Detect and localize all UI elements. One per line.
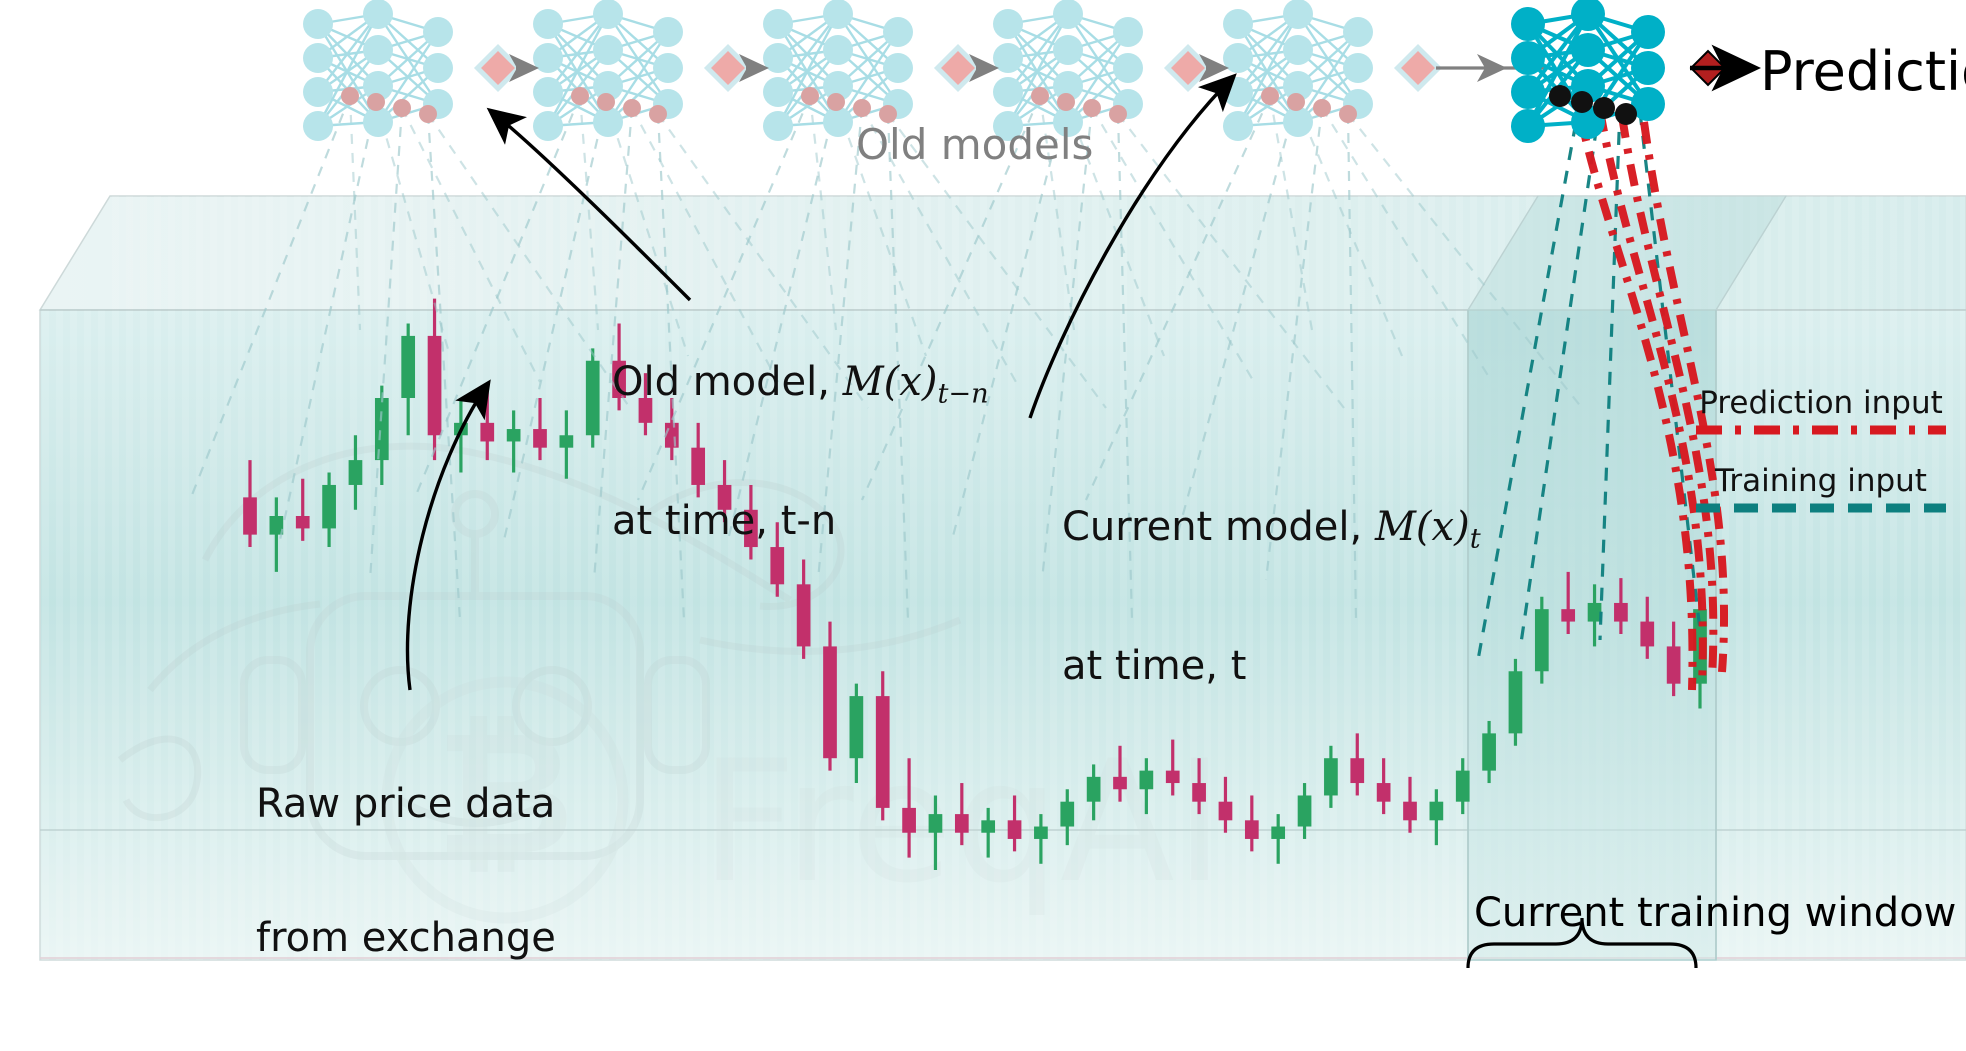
legend-swatch-prediction-input — [1690, 421, 1952, 439]
legend-swatch-training-input — [1690, 499, 1952, 517]
old-model-time-line: at time, t-n — [612, 499, 989, 544]
old-model-text-prefix: Old model, — [612, 359, 843, 405]
legend-item-prediction-input: Prediction input — [1686, 385, 1956, 443]
current-model-math-x: (x) — [1416, 504, 1470, 550]
current-model-text-prefix: Current model, — [1062, 504, 1375, 550]
old-model-annotation: Old model, M(x)t−n at time, t-n — [612, 270, 989, 634]
prediction-label: Prediction — [1760, 40, 1966, 103]
old-models-label: Old models — [856, 120, 1093, 169]
diagram-canvas: ₿ FreqAI Old models Old model, M(x)t−n a… — [0, 0, 1966, 981]
current-model-annotation: Current model, M(x)t at time, t — [1062, 415, 1481, 779]
legend: Prediction input Training input — [1686, 385, 1956, 521]
raw-price-line-2: from exchange — [256, 916, 556, 961]
raw-price-line-1: Raw price data — [256, 782, 556, 827]
legend-item-training-input: Training input — [1686, 463, 1956, 521]
raw-price-callout-arrow — [407, 385, 487, 690]
old-model-math-m: M — [843, 359, 884, 405]
current-training-window-label: Current training window — [1474, 890, 1956, 936]
raw-price-annotation: Raw price data from exchange — [256, 692, 556, 1050]
current-model-math-m: M — [1375, 504, 1416, 550]
old-model-math-x: (x) — [884, 359, 938, 405]
current-model-time-line: at time, t — [1062, 644, 1481, 689]
old-model-math-subscript: t−n — [937, 378, 988, 409]
legend-label-prediction-input: Prediction input — [1686, 385, 1956, 421]
current-model-math-subscript: t — [1470, 523, 1481, 554]
legend-label-training-input: Training input — [1686, 463, 1956, 499]
